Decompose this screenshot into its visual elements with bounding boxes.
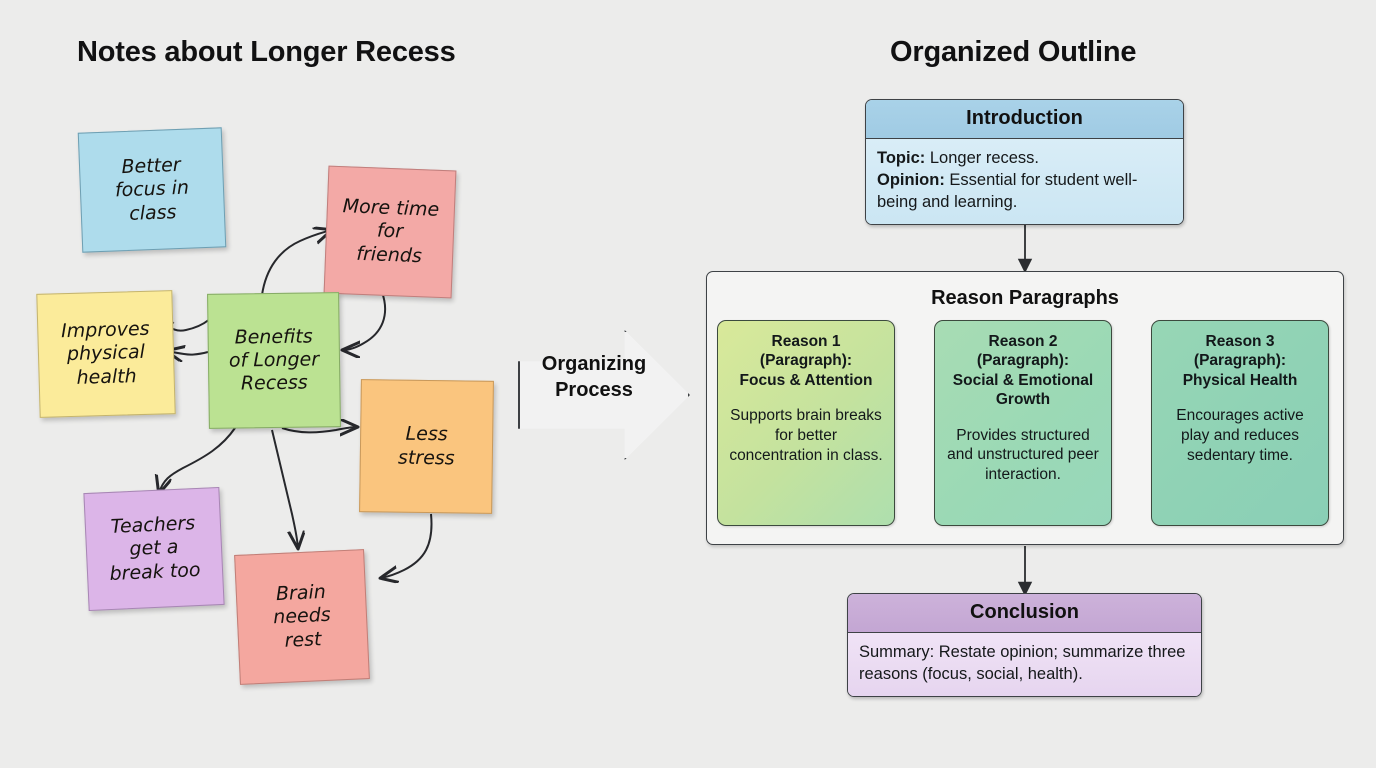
reason-card-2[interactable]: Reason 2(Paragraph):Social & Emotional G… <box>934 320 1112 526</box>
opinion-label: Opinion: <box>877 171 945 189</box>
sticky-note-benefits-of-longer-recess[interactable]: Benefitsof LongerRecess <box>207 292 341 429</box>
conclusion-card[interactable]: Conclusion Summary: Restate opinion; sum… <box>847 593 1202 697</box>
reason-paragraphs-title: Reason Paragraphs <box>706 287 1344 310</box>
introduction-line-opinion: Opinion: Essential for student well-bein… <box>877 170 1172 214</box>
introduction-header: Introduction <box>866 100 1183 139</box>
sticky-note-brain-needs-rest[interactable]: Brainneedsrest <box>234 549 370 685</box>
sticky-note-text: Brainneedsrest <box>272 581 332 653</box>
organizing-process-arrow-icon <box>518 330 690 460</box>
sticky-note-text: Betterfocus inclass <box>114 154 191 226</box>
introduction-line-topic: Topic: Longer recess. <box>877 148 1172 170</box>
reason-card-3[interactable]: Reason 3(Paragraph):Physical Health Enco… <box>1151 320 1329 526</box>
sticky-note-text: More timeforfriends <box>340 195 439 268</box>
reason-card-1[interactable]: Reason 1(Paragraph):Focus & Attention Su… <box>717 320 895 526</box>
sticky-note-improves-physical-health[interactable]: Improvesphysicalhealth <box>36 290 175 418</box>
sticky-note-text: Benefitsof LongerRecess <box>228 325 319 396</box>
conclusion-header: Conclusion <box>848 594 1201 633</box>
sticky-note-text: Teachersget abreak too <box>107 512 201 586</box>
sticky-note-text: Improvesphysicalhealth <box>61 318 151 390</box>
conclusion-body: Summary: Restate opinion; summarize thre… <box>848 633 1201 696</box>
topic-label: Topic: <box>877 149 925 167</box>
sticky-note-less-stress[interactable]: Lessstress <box>359 379 494 514</box>
reason-2-heading: Reason 2(Paragraph):Social & Emotional G… <box>944 332 1102 410</box>
topic-text: Longer recess. <box>925 149 1039 167</box>
left-panel-title: Notes about Longer Recess <box>77 36 456 69</box>
reason-3-heading: Reason 3(Paragraph):Physical Health <box>1161 332 1319 390</box>
reason-2-description: Provides structured and unstructured pee… <box>944 426 1102 485</box>
diagram-canvas: Notes about Longer Recess Organized Outl… <box>0 0 1376 768</box>
reason-1-description: Supports brain breaks for better concent… <box>727 406 885 465</box>
introduction-body: Topic: Longer recess. Opinion: Essential… <box>866 139 1183 224</box>
right-panel-title: Organized Outline <box>890 36 1136 69</box>
sticky-note-more-time-for-friends[interactable]: More timeforfriends <box>324 166 457 299</box>
introduction-card[interactable]: Introduction Topic: Longer recess. Opini… <box>865 99 1184 225</box>
reason-1-heading: Reason 1(Paragraph):Focus & Attention <box>727 332 885 390</box>
sticky-note-teachers-get-a-break-too[interactable]: Teachersget abreak too <box>83 487 224 611</box>
sticky-note-better-focus[interactable]: Betterfocus inclass <box>78 127 227 252</box>
reason-3-description: Encourages active play and reduces seden… <box>1161 406 1319 465</box>
sticky-note-text: Lessstress <box>398 423 455 470</box>
